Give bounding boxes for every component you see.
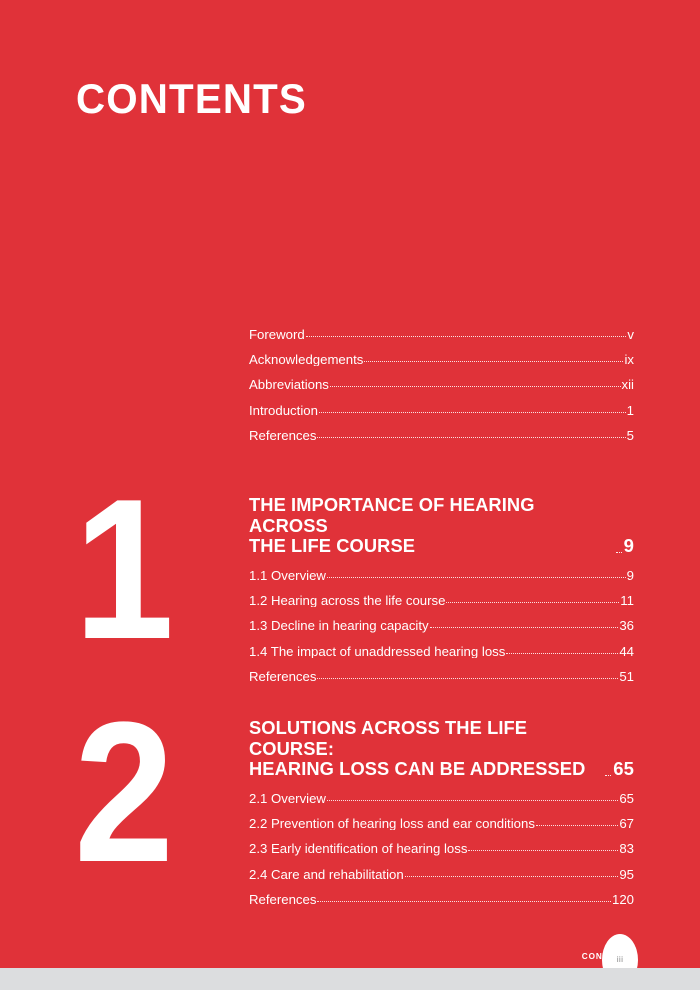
toc-entry-page: 11: [620, 594, 634, 607]
folio-page-number: iii: [602, 954, 638, 964]
toc-entry-label: 1.1 Overview: [249, 569, 326, 582]
chapter-sections-1: 1.1 Overview 9 1.2 Hearing across the li…: [249, 563, 634, 689]
toc-entry-abbreviations[interactable]: Abbreviations xii: [249, 372, 634, 397]
dot-leader: [506, 652, 618, 654]
chapter-page: 9: [624, 536, 634, 557]
toc-entry-page: 120: [612, 893, 634, 906]
toc-entry-acknowledgements[interactable]: Acknowledgements ix: [249, 347, 634, 372]
toc-entry-label: 1.3 Decline in hearing capacity: [249, 619, 429, 632]
dot-leader: [536, 824, 618, 826]
toc-entry-page: 9: [627, 569, 634, 582]
toc-entry-1-1[interactable]: 1.1 Overview 9: [249, 563, 634, 588]
toc-entry-page: ix: [624, 353, 634, 366]
chapter-number-2: 2: [74, 715, 209, 871]
chapter-title: THE IMPORTANCE OF HEARING ACROSS THE LIF…: [249, 495, 614, 557]
toc-entry-page: 1: [627, 404, 634, 417]
chapter-number-1: 1: [74, 492, 209, 648]
front-matter-list: Foreword v Acknowledgements ix Abbreviat…: [249, 322, 634, 448]
toc-entry-2-1[interactable]: 2.1 Overview 65: [249, 786, 634, 811]
toc-entry-label: Acknowledgements: [249, 353, 363, 366]
toc-entry-references[interactable]: References 5: [249, 423, 634, 448]
chapter-title: SOLUTIONS ACROSS THE LIFE COURSE: HEARIN…: [249, 718, 603, 780]
toc-entry-page: 51: [619, 670, 634, 683]
toc-entry-label: 2.2 Prevention of hearing loss and ear c…: [249, 817, 535, 830]
dot-leader: [616, 551, 622, 553]
chapter-page: 65: [613, 759, 634, 780]
dot-leader: [468, 849, 618, 851]
page-title: CONTENTS: [76, 78, 307, 120]
toc-entry-label: 2.4 Care and rehabilitation: [249, 868, 404, 881]
toc-entry-page: 67: [619, 817, 634, 830]
toc-entry-label: Introduction: [249, 404, 318, 417]
toc-entry-introduction[interactable]: Introduction 1: [249, 398, 634, 423]
chapter-body-2: SOLUTIONS ACROSS THE LIFE COURSE: HEARIN…: [249, 718, 634, 912]
toc-entry-label: Foreword: [249, 328, 305, 341]
toc-entry-page: 36: [619, 619, 634, 632]
toc-entry-1-4[interactable]: 1.4 The impact of unaddressed hearing lo…: [249, 639, 634, 664]
toc-entry-2-2[interactable]: 2.2 Prevention of hearing loss and ear c…: [249, 811, 634, 836]
dot-leader: [317, 436, 625, 438]
dot-leader: [430, 626, 619, 628]
toc-entry-label: Abbreviations: [249, 378, 329, 391]
chapter-title-row-1[interactable]: THE IMPORTANCE OF HEARING ACROSS THE LIF…: [249, 495, 634, 557]
contents-page: CONTENTS Foreword v Acknowledgements ix …: [0, 0, 700, 990]
toc-entry-page: 5: [627, 429, 634, 442]
toc-entry-page: 83: [619, 842, 634, 855]
dot-leader: [327, 576, 626, 578]
toc-entry-page: 65: [619, 792, 634, 805]
dot-leader: [317, 900, 611, 902]
toc-entry-foreword[interactable]: Foreword v: [249, 322, 634, 347]
dot-leader: [364, 360, 623, 362]
toc-entry-page: v: [627, 328, 634, 341]
toc-entry-page: xii: [622, 378, 634, 391]
toc-entry-page: 44: [619, 645, 634, 658]
toc-entry-2-3[interactable]: 2.3 Early identification of hearing loss…: [249, 836, 634, 861]
dot-leader: [319, 411, 626, 413]
dot-leader: [605, 774, 611, 776]
toc-entry-label: 1.2 Hearing across the life course: [249, 594, 445, 607]
toc-entry-2-references[interactable]: References 120: [249, 887, 634, 912]
toc-entry-label: References: [249, 670, 316, 683]
bottom-gray-strip: [0, 968, 700, 990]
toc-entry-label: 1.4 The impact of unaddressed hearing lo…: [249, 645, 505, 658]
chapter-sections-2: 2.1 Overview 65 2.2 Prevention of hearin…: [249, 786, 634, 912]
dot-leader: [317, 677, 618, 679]
dot-leader: [405, 875, 619, 877]
chapter-body-1: THE IMPORTANCE OF HEARING ACROSS THE LIF…: [249, 495, 634, 689]
dot-leader: [446, 601, 619, 603]
toc-entry-1-references[interactable]: References 51: [249, 664, 634, 689]
dot-leader: [327, 799, 618, 801]
toc-entry-1-2[interactable]: 1.2 Hearing across the life course 11: [249, 588, 634, 613]
toc-entry-page: 95: [619, 868, 634, 881]
toc-entry-label: References: [249, 893, 316, 906]
dot-leader: [330, 385, 621, 387]
toc-entry-label: 2.1 Overview: [249, 792, 326, 805]
toc-entry-label: References: [249, 429, 316, 442]
toc-entry-2-4[interactable]: 2.4 Care and rehabilitation 95: [249, 862, 634, 887]
toc-entry-1-3[interactable]: 1.3 Decline in hearing capacity 36: [249, 613, 634, 638]
dot-leader: [306, 335, 627, 337]
chapter-title-row-2[interactable]: SOLUTIONS ACROSS THE LIFE COURSE: HEARIN…: [249, 718, 634, 780]
toc-entry-label: 2.3 Early identification of hearing loss: [249, 842, 467, 855]
